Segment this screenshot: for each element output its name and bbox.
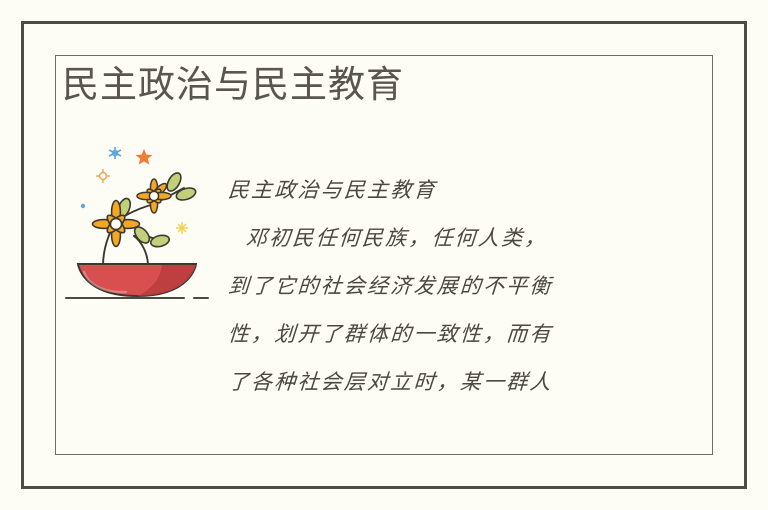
body-line-4: 性，划开了群体的一致性，而有: [226, 310, 659, 358]
flower-large: [93, 201, 140, 247]
body-line-5: 了各种社会层对立时，某一群人: [226, 358, 659, 406]
body-line-1: 民主政治与民主教育: [226, 166, 659, 214]
body-line-2: 邓初民任何民族，任何人类，: [226, 214, 659, 262]
red-bowl: [78, 264, 196, 296]
page-title: 民主政治与民主教育: [62, 62, 404, 108]
potted-flowers-illustration: [56, 138, 218, 310]
slide-canvas: 民主政治与民主教育: [0, 0, 768, 510]
handwritten-body-text: 民主政治与民主教育 邓初民任何民族，任何人类， 到了它的社会经济发展的不平衡 性…: [228, 166, 658, 406]
body-line-3: 到了它的社会经济发展的不平衡: [226, 262, 659, 310]
